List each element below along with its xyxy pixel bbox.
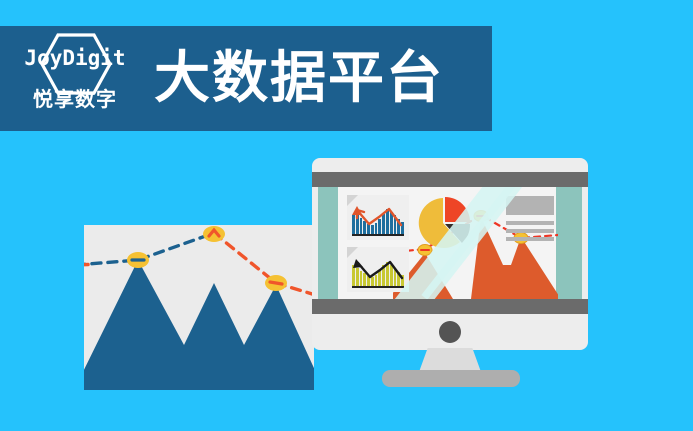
bar-chart-card-blue (347, 195, 409, 240)
banner-root: JoyDigit 悦享数字 大数据平台 (0, 0, 693, 431)
logo-wordmark: JoyDigit (14, 47, 136, 69)
logo-chinese-name: 悦享数字 (14, 87, 136, 111)
header-bar: JoyDigit 悦享数字 大数据平台 (0, 26, 492, 131)
trend-line-stub (84, 265, 88, 266)
text-block-line (506, 237, 554, 241)
text-placeholder-block (506, 196, 554, 241)
screen-accent-left (318, 187, 338, 299)
monitor-stand-neck (419, 348, 481, 372)
page-title: 大数据平台 (154, 47, 444, 111)
text-block-heading (506, 196, 554, 215)
bar-chart-card-yellow (347, 247, 409, 292)
logo: JoyDigit 悦享数字 (14, 31, 136, 126)
text-block-line (506, 229, 554, 233)
monitor-band-bottom (312, 299, 588, 314)
trend-arrow-up-left (347, 247, 409, 292)
monitor-band-top (312, 172, 588, 187)
text-block-line (506, 221, 554, 225)
mountain-area-chart (84, 225, 314, 390)
monitor-power-button[interactable] (439, 321, 461, 343)
trend-line-left (84, 233, 214, 265)
desktop-monitor (312, 158, 588, 350)
marker-tick (270, 282, 282, 284)
trend-line-right (214, 233, 314, 297)
trend-arrow-up-left (347, 195, 409, 240)
monitor-screen (318, 187, 582, 299)
left-mountain-chart-panel (84, 225, 314, 390)
monitor-stand-base (382, 370, 520, 387)
screen-accent-right (556, 187, 582, 299)
